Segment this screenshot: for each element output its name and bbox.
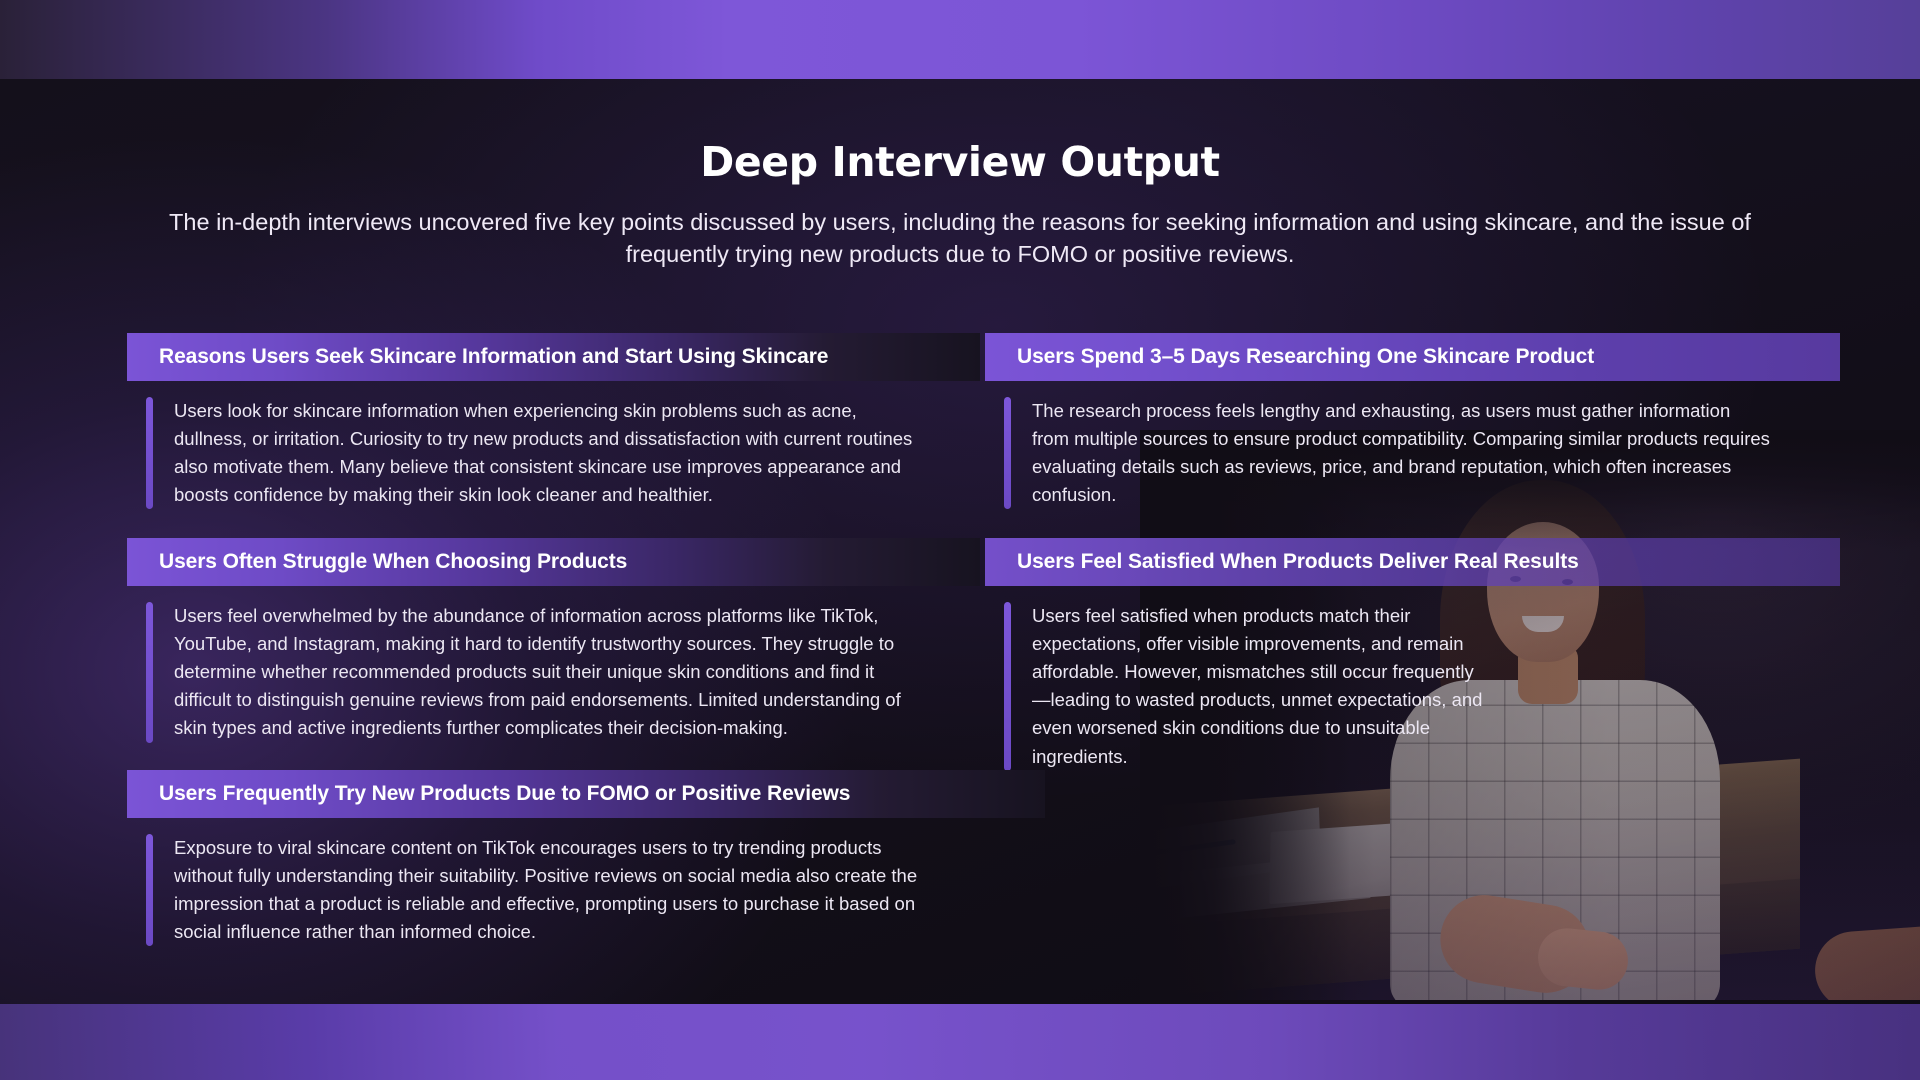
card-1-title: Reasons Users Seek Skincare Information … xyxy=(127,333,980,381)
insight-card-grid: Reasons Users Seek Skincare Information … xyxy=(0,0,1920,1080)
bottom-purple-band xyxy=(0,1004,1920,1080)
card-4-title: Users Feel Satisfied When Products Deliv… xyxy=(985,538,1840,586)
card-3-title: Users Often Struggle When Choosing Produ… xyxy=(127,538,980,586)
insight-card-2[interactable]: Users Spend 3–5 Days Researching One Ski… xyxy=(985,333,1840,509)
card-2-title: Users Spend 3–5 Days Researching One Ski… xyxy=(985,333,1840,381)
insight-card-4[interactable]: Users Feel Satisfied When Products Deliv… xyxy=(985,538,1840,771)
card-1-body: Users look for skincare information when… xyxy=(127,381,980,509)
card-4-body: Users feel satisfied when products match… xyxy=(985,586,1840,771)
top-purple-band xyxy=(0,0,1920,79)
accent-bar-icon xyxy=(146,397,153,509)
insight-card-3[interactable]: Users Often Struggle When Choosing Produ… xyxy=(127,538,980,743)
insight-card-1[interactable]: Reasons Users Seek Skincare Information … xyxy=(127,333,980,509)
accent-bar-icon xyxy=(1004,602,1011,771)
card-4-body-text: Users feel satisfied when products match… xyxy=(1032,602,1487,771)
slide-canvas: Deep Interview Output The in-depth inter… xyxy=(0,0,1920,1080)
card-5-body-text: Exposure to viral skincare content on Ti… xyxy=(174,834,929,946)
accent-bar-icon xyxy=(1004,397,1011,509)
card-3-body-text: Users feel overwhelmed by the abundance … xyxy=(174,602,904,743)
card-1-body-text: Users look for skincare information when… xyxy=(174,397,919,509)
accent-bar-icon xyxy=(146,602,153,743)
card-5-title: Users Frequently Try New Products Due to… xyxy=(127,770,1045,818)
card-5-body: Exposure to viral skincare content on Ti… xyxy=(127,818,1045,946)
accent-bar-icon xyxy=(146,834,153,946)
card-2-body: The research process feels lengthy and e… xyxy=(985,381,1840,509)
card-2-body-text: The research process feels lengthy and e… xyxy=(1032,397,1772,509)
card-3-body: Users feel overwhelmed by the abundance … xyxy=(127,586,980,743)
insight-card-5[interactable]: Users Frequently Try New Products Due to… xyxy=(127,770,1045,946)
